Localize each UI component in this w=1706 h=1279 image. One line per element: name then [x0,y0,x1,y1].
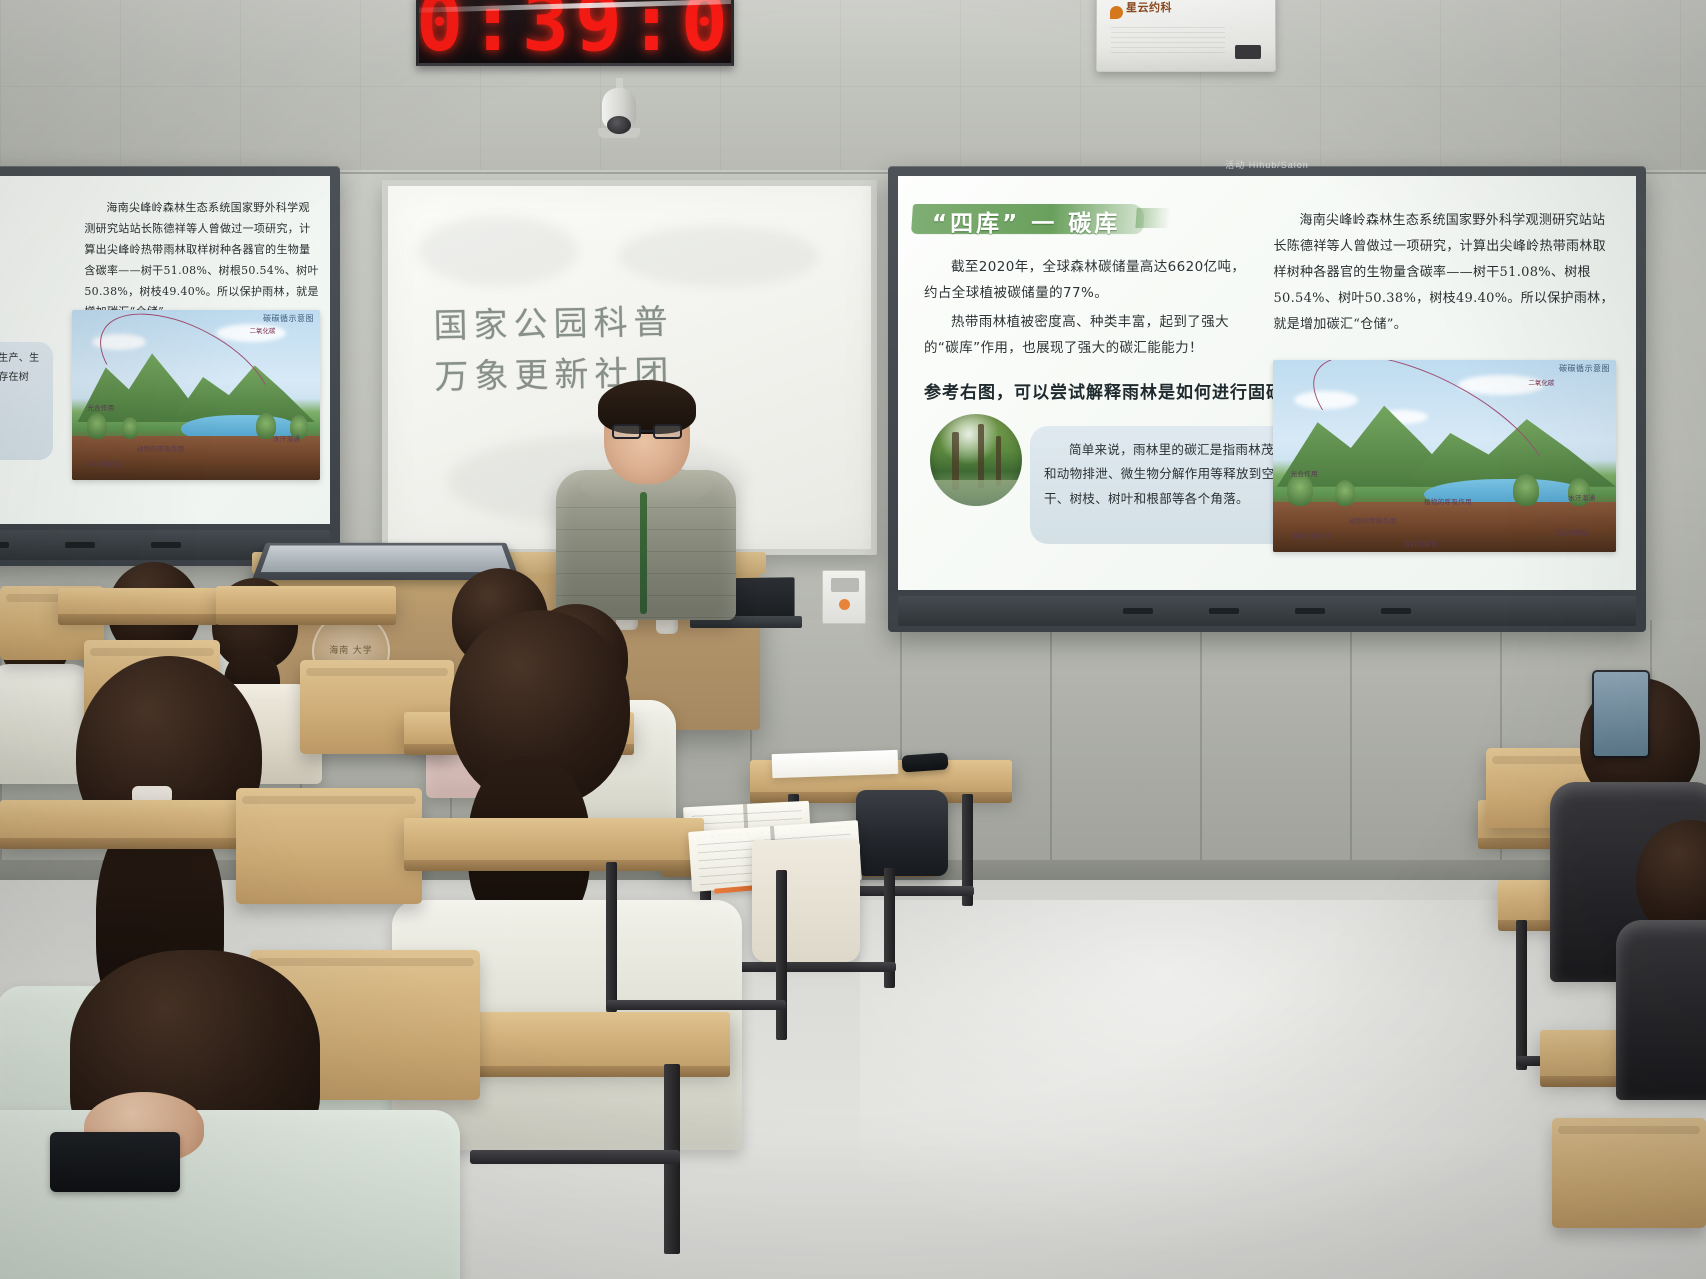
left-slide-fragment-1: 亿吨，约占 [0,232,72,255]
phone-raised-right[interactable] [1592,670,1650,758]
left-display-panel: 亿吨，约占 了强大的“碳 如何进行固碳的吗？ 海南尖峰岭森林生态系统国家野外科学… [0,176,330,524]
left-slide-right-paragraph: 海南尖峰岭森林生态系统国家野外科学观测研究站站长陈德祥等人曾做过一项研究，计算出… [84,198,320,323]
right-display-key-power[interactable] [1123,608,1153,614]
phone-screen [1594,672,1648,756]
glasses-icon [612,424,682,439]
paper-sheet-1[interactable] [772,750,899,778]
figure-label-animal-respiration: 动物的呼吸作用 [1349,515,1397,525]
phone-in-hand-left[interactable] [50,1132,180,1192]
whiteboard-line-1: 国家公园科普 [433,295,834,353]
figure-label-plant-respiration: 植物的呼吸作用 [1424,496,1472,506]
slide-title: “四库” 一 碳库 [924,202,1128,240]
desk-leg [1516,920,1527,1070]
desk-rail [606,1000,786,1010]
socket-slot-upper[interactable] [831,578,859,592]
socket-indicator-icon [839,599,850,610]
figure-label-organic-carbon: 有机物碳化 [1404,538,1438,548]
desk-leg [606,862,617,1012]
speaker-brand-label: 星云约科 [1111,0,1172,15]
slide-right-paragraph: 海南尖峰岭森林生态系统国家野外科学观测研究站站长陈德祥等人曾做过一项研究，计算出… [1273,208,1616,338]
backpack-on-desk[interactable] [856,790,948,876]
digital-wall-clock: 10:39:06 [416,0,734,66]
camera-lens-icon [607,116,631,134]
right-display-key-menu[interactable] [1295,608,1325,614]
figure-label-co2: 二氧化碳 [1528,377,1554,387]
speaker-button[interactable] [1235,45,1261,59]
left-interactive-display[interactable]: 亿吨，约占 了强大的“碳 如何进行固碳的吗？ 海南尖峰岭森林生态系统国家野外科学… [0,166,340,566]
left-display-key-menu[interactable] [151,542,181,548]
speaker-logo-icon [1110,6,1123,19]
figure-label-low-carbon: 低含碳排放 [1555,527,1589,537]
phone-on-desk-1[interactable] [901,752,948,772]
student-coat [1616,920,1706,1100]
right-display-panel: “四库” 一 碳库 截至2020年，全球森林碳储量高达6620亿吨，约占全球植被… [898,176,1636,590]
carbon-cycle-figure: 碳碳循示意图 [1273,360,1616,552]
wall-socket-panel[interactable] [822,570,866,624]
left-figure-title: 碳碳循示意图 [263,313,314,324]
figure-label-water-cycle: 水汗溜通 [1568,492,1595,502]
figure-label-photosynthesis: 光合作用 [1291,468,1318,478]
left-display-key-power[interactable] [0,542,9,548]
left-figure-label-animal-respiration: 动物的呼吸作用 [137,443,185,453]
desk-left-far[interactable] [58,588,218,616]
left-display-key-home[interactable] [65,542,95,548]
figure-title: 碳碳循示意图 [1559,363,1610,374]
slide-title-banner: “四库” 一 碳库 [924,202,1128,240]
chair-back-right-2[interactable] [1552,1118,1706,1228]
left-slide-fragment-2: 了强大的“碳 [0,281,72,304]
presenter-jacket-zip [640,492,647,614]
classroom-scene: 10:39:06 星云约科 亿吨，约占 了强大的“碳 如何进行固碳的吗？ [0,0,1706,1279]
right-display-key-source[interactable] [1381,608,1411,614]
tote-bag[interactable] [752,840,860,962]
figure-label-animal-waste: 动物遗体排泄 [1291,530,1332,540]
left-slide: 亿吨，约占 了强大的“碳 如何进行固碳的吗？ 海南尖峰岭森林生态系统国家野外科学… [0,176,330,524]
right-display-bezel [898,596,1636,626]
slide-right-column: 海南尖峰岭森林生态系统国家野外科学观测研究站站长陈德祥等人曾做过一项研究，计算出… [1273,208,1616,338]
speaker-grille [1111,23,1225,53]
security-camera-icon [596,88,642,150]
chair-back-4[interactable] [236,788,422,904]
right-display-key-home[interactable] [1209,608,1239,614]
back-wall-upper [0,0,1706,175]
desk-left-mid[interactable] [216,586,396,616]
floor-reflection [860,900,1620,1260]
right-interactive-display[interactable]: 活动 Hihub/Salon “四库” 一 碳库 截至2020年，全球森林碳储量… [888,166,1646,632]
desk-rail [470,1150,680,1164]
desk-front-center[interactable] [404,818,704,862]
desk-leg [776,870,787,1040]
slide-left-column: 截至2020年，全球森林碳储量高达6620亿吨，约占全球植被碳储量的77%。 热… [924,254,1270,363]
wall-speaker-unit: 星云约科 [1096,0,1276,72]
left-figure-label-co2: 二氧化碳 [249,325,275,335]
slide-paragraph-1: 截至2020年，全球森林碳储量高达6620亿吨，约占全球植被碳储量的77%。 [924,254,1256,307]
slide-paragraph-2: 热带雨林植被密度高、种类丰富，起到了强大的“碳库”作用，也展现了强大的碳汇能能力… [924,309,1256,362]
presentation-slide: “四库” 一 碳库 截至2020年，全球森林碳储量高达6620亿吨，约占全球植被… [898,176,1636,590]
left-figure-label-organic-carbon: 有机物碳化 [87,458,121,468]
rainforest-photo-thumbnail [930,414,1022,506]
presenter [556,388,736,618]
left-figure-label-water: 水汗溜通 [273,433,300,443]
left-slide-bubble: 汇是指雨林茂密的植被、将人类生产、生活和等释放到空气中的二最后储存在树干、 [0,342,53,460]
lectern-monitor-screen [261,546,511,573]
left-carbon-cycle-figure: 碳碳循示意图 二氧化碳 光合作用 动物的呼 [72,310,320,480]
left-figure-label-photosynthesis: 光合作用 [87,402,114,412]
display-brand-tag: 活动 Hihub/Salon [1225,158,1309,171]
